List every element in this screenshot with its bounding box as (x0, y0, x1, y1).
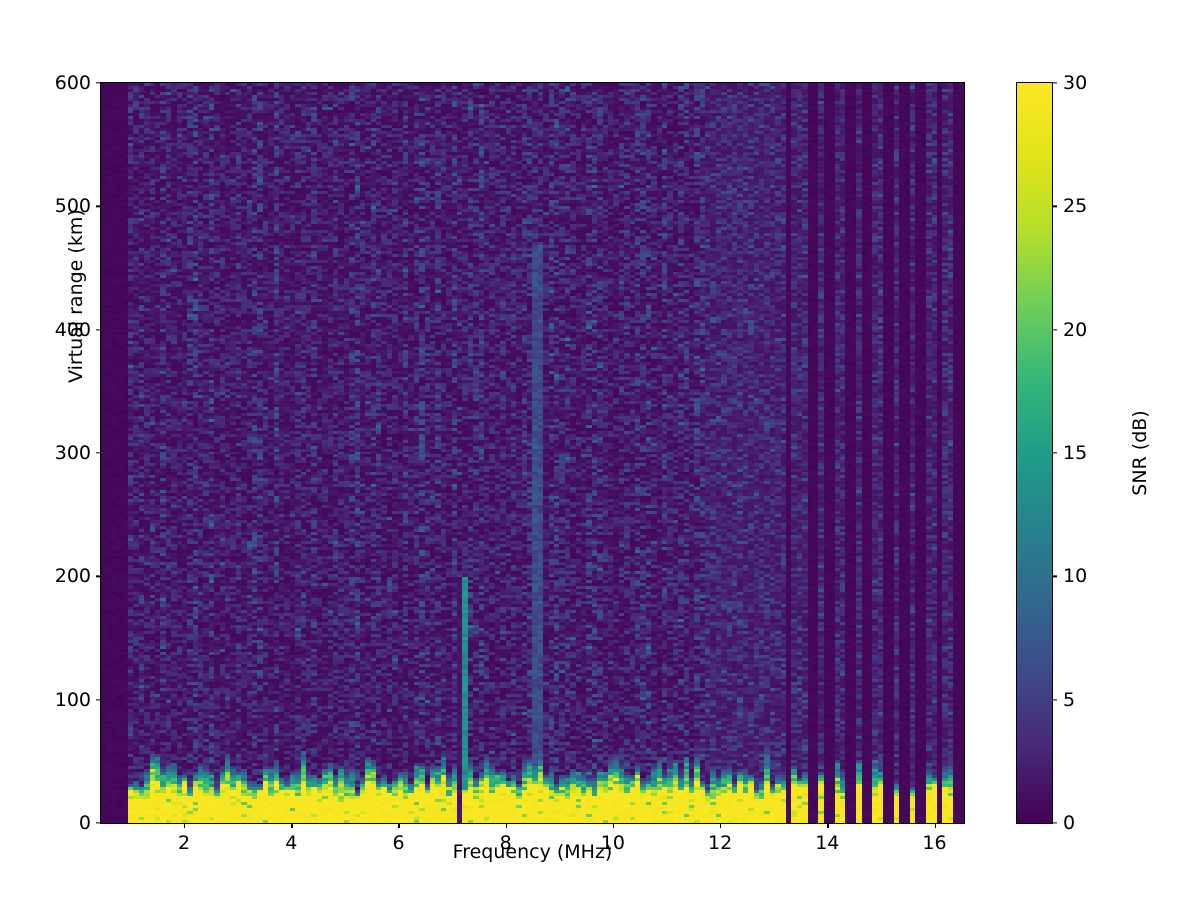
colorbar-gradient (1017, 83, 1052, 823)
x-tick-label: 8 (471, 823, 541, 854)
y-tick-label: 0 (41, 812, 101, 834)
x-tick-label: 10 (578, 823, 648, 854)
x-tick-label: 2 (149, 823, 219, 854)
x-tick-label: 16 (900, 823, 970, 854)
colorbar: 051015202530 SNR (dB) (1016, 82, 1053, 824)
colorbar-label: SNR (dB) (1129, 410, 1151, 495)
x-tick-label: 14 (792, 823, 862, 854)
colorbar-tick-label: 0 (1052, 812, 1075, 834)
ionogram-heatmap (101, 83, 964, 823)
colorbar-tick-label: 15 (1052, 442, 1087, 464)
x-tick-label: 4 (256, 823, 326, 854)
x-tick-label: 12 (685, 823, 755, 854)
y-tick-label: 600 (41, 72, 101, 94)
y-tick-label: 100 (41, 689, 101, 711)
ionogram-figure: IRF Kiruna Ionosonde KI167 2025-10-07 14… (0, 0, 1200, 900)
colorbar-tick-label: 20 (1052, 319, 1087, 341)
colorbar-tick-label: 5 (1052, 689, 1075, 711)
colorbar-tick-label: 25 (1052, 195, 1087, 217)
y-axis-label: Virtual range (km) (65, 209, 87, 383)
y-tick-label: 500 (41, 195, 101, 217)
y-tick-label: 300 (41, 442, 101, 464)
colorbar-tick-label: 10 (1052, 565, 1087, 587)
colorbar-tick-label: 30 (1052, 72, 1087, 94)
x-tick-label: 6 (363, 823, 433, 854)
y-tick-label: 200 (41, 565, 101, 587)
plot-axes: Virtual range (km) 0100200300400500600 F… (100, 82, 965, 824)
y-tick-label: 400 (41, 319, 101, 341)
